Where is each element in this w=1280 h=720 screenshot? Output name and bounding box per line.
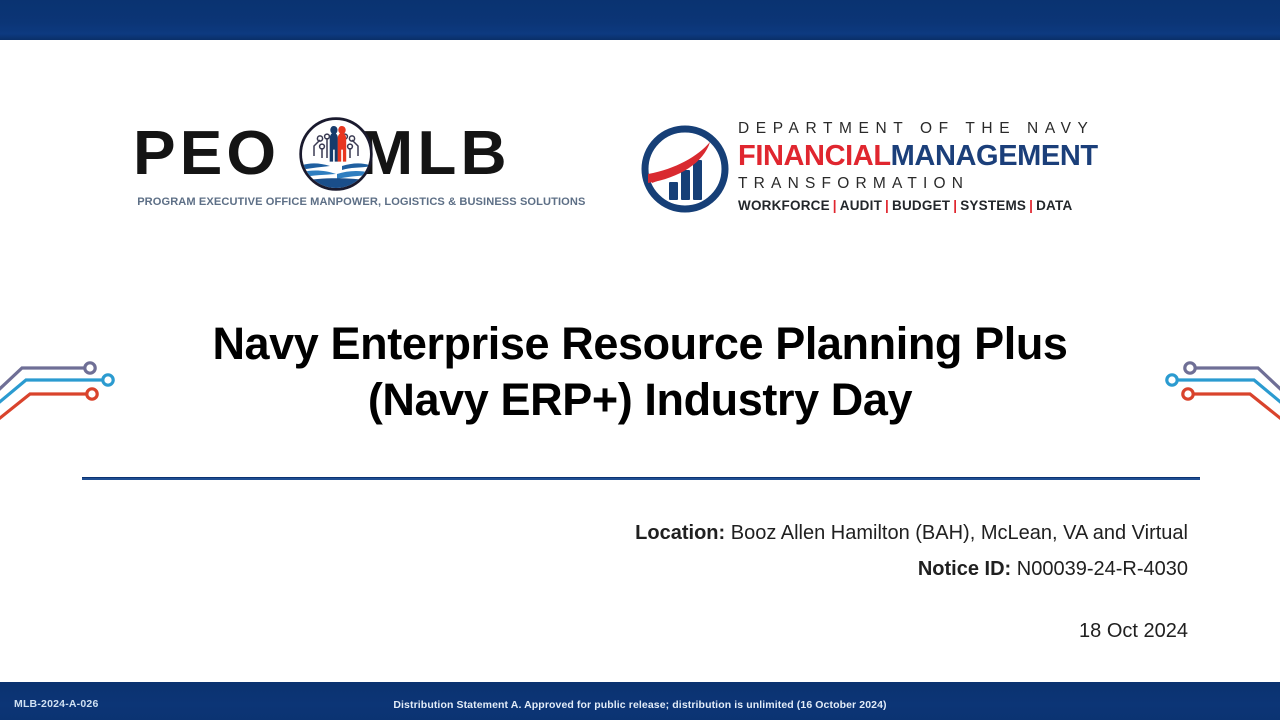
- fmt-pillar-workforce: WORKFORCE: [738, 198, 830, 213]
- fmt-pillars-line: WORKFORCE|AUDIT|BUDGET|SYSTEMS|DATA: [738, 196, 1170, 216]
- navy-fmt-wordmark: DEPARTMENT OF THE NAVY FINANCIALMANAGEME…: [738, 118, 1170, 224]
- fmt-pillar-budget: BUDGET: [892, 198, 950, 213]
- navy-fmt-circle-chart-icon: [638, 120, 732, 218]
- pillar-separator-icon: |: [1026, 198, 1036, 213]
- event-date: 18 Oct 2024: [1079, 620, 1188, 643]
- fmt-pillar-systems: SYSTEMS: [960, 198, 1026, 213]
- horizontal-divider: [82, 477, 1200, 480]
- fmt-word-financial: FINANCIAL: [738, 140, 891, 172]
- title-line-2: (Navy ERP+) Industry Day: [90, 372, 1190, 428]
- location-value: Booz Allen Hamilton (BAH), McLean, VA an…: [731, 522, 1188, 544]
- fmt-department-line: DEPARTMENT OF THE NAVY: [738, 118, 1170, 140]
- pillar-separator-icon: |: [830, 198, 840, 213]
- page-title: Navy Enterprise Resource Planning Plus (…: [90, 316, 1190, 428]
- top-accent-bar: [0, 0, 1280, 40]
- footer-distribution-statement: Distribution Statement A. Approved for p…: [0, 699, 1280, 711]
- notice-id-label: Notice ID:: [918, 558, 1011, 580]
- presentation-title-slide: PEO MLB: [0, 0, 1280, 720]
- peo-wordmark-right: MLB: [360, 123, 511, 185]
- event-details: Location: Booz Allen Hamilton (BAH), McL…: [635, 515, 1188, 587]
- navy-fmt-logo: DEPARTMENT OF THE NAVY FINANCIALMANAGEME…: [638, 118, 1170, 224]
- notice-id-value: N00039-24-R-4030: [1017, 558, 1188, 580]
- peo-mlb-logo: PEO MLB: [133, 116, 573, 216]
- fmt-pillar-data: DATA: [1036, 198, 1072, 213]
- fmt-pillar-audit: AUDIT: [840, 198, 882, 213]
- fmt-transformation-line: TRANSFORMATION: [738, 172, 1170, 196]
- title-line-1: Navy Enterprise Resource Planning Plus: [90, 316, 1190, 372]
- location-label: Location:: [635, 522, 725, 544]
- peo-mlb-tagline: PROGRAM EXECUTIVE OFFICE MANPOWER, LOGIS…: [137, 196, 571, 208]
- location-row: Location: Booz Allen Hamilton (BAH), McL…: [635, 515, 1188, 551]
- peo-mlb-emblem-icon: [296, 114, 376, 194]
- fmt-word-management: MANAGEMENT: [891, 140, 1098, 172]
- peo-wordmark-left: PEO: [133, 123, 280, 185]
- notice-id-row: Notice ID: N00039-24-R-4030: [635, 551, 1188, 587]
- fmt-main-line: FINANCIALMANAGEMENT: [738, 140, 1170, 172]
- pillar-separator-icon: |: [950, 198, 960, 213]
- pillar-separator-icon: |: [882, 198, 892, 213]
